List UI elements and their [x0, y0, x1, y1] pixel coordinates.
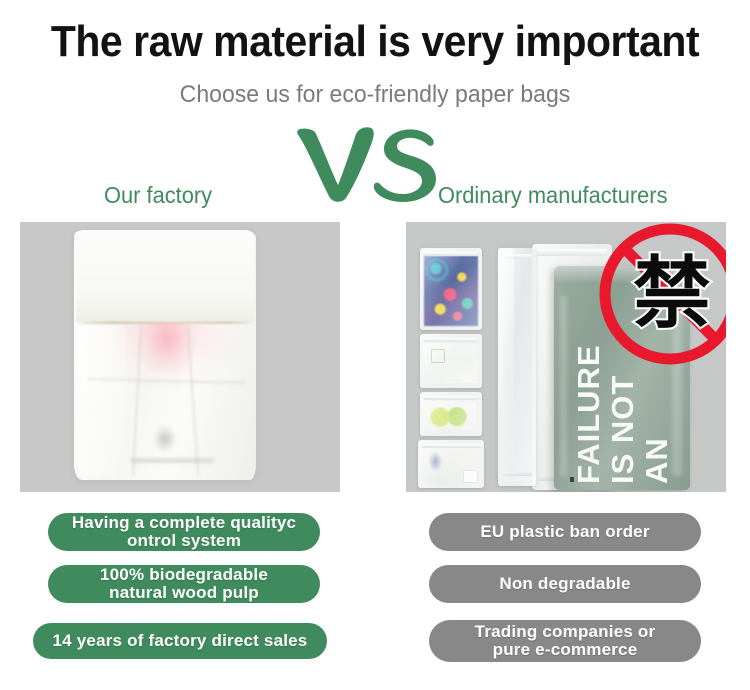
- bag-top-flap: [76, 230, 254, 322]
- zip-bag-white: [420, 334, 482, 388]
- bag-contents-dark: [154, 426, 176, 452]
- feature-pill-our-factory[interactable]: 14 years of factory direct sales: [33, 623, 327, 659]
- page-subtitle: Choose us for eco-friendly paper bags: [15, 80, 735, 110]
- bag-contents-pink: [140, 316, 194, 374]
- feature-pill-our-factory[interactable]: Having a complete qualityc ontrol system: [48, 513, 320, 551]
- pill-line-1: Non degradable: [499, 575, 630, 593]
- zip-seal: [421, 444, 481, 448]
- pill-line-2: ontrol system: [72, 532, 296, 550]
- white-paper-bag-image: [74, 230, 256, 480]
- promo-banner: The raw material is very important Choos…: [0, 0, 750, 690]
- pill-line-1: 100% biodegradable: [100, 566, 268, 584]
- zip-seal: [423, 396, 479, 400]
- vs-brush-mark: [296, 124, 446, 202]
- feature-pill-ordinary[interactable]: EU plastic ban order: [429, 513, 701, 551]
- pill-line-1: Trading companies or: [475, 623, 656, 641]
- pill-line-1: 14 years of factory direct sales: [53, 632, 308, 650]
- feature-pill-our-factory[interactable]: 100% biodegradable natural wood pulp: [48, 565, 320, 603]
- pill-line-1: Having a complete qualityc: [72, 514, 296, 532]
- bag-mark: [570, 477, 574, 482]
- bag-seam: [80, 321, 250, 324]
- feature-pill-ordinary[interactable]: Non degradable: [429, 565, 701, 603]
- pill-line-1: EU plastic ban order: [480, 523, 649, 541]
- right-column-caption: Ordinary manufacturers: [438, 182, 668, 208]
- feature-pill-ordinary[interactable]: Trading companies or pure e-commerce: [429, 620, 701, 662]
- bag-wrinkle: [560, 296, 567, 476]
- plastic-film-sheen: [498, 248, 514, 486]
- pill-line-2: natural wood pulp: [100, 584, 268, 602]
- prohibit-character: 禁: [633, 249, 711, 339]
- bag-sheen: [78, 326, 126, 476]
- our-factory-product-photo: [20, 222, 340, 492]
- prohibition-sign-icon: 禁: [594, 222, 726, 370]
- zip-seal: [423, 252, 479, 256]
- zip-bag-misc-items: [418, 440, 484, 488]
- zip-bag-green-discs: [420, 392, 482, 436]
- page-title: The raw material is very important: [26, 18, 724, 66]
- bag-crease: [132, 326, 142, 476]
- clear-plastic-mailer: [498, 248, 536, 486]
- left-column-caption: Our factory: [104, 182, 212, 208]
- zip-seal: [423, 338, 479, 342]
- plastic-film-sheen: [420, 248, 482, 330]
- pill-line-2: pure e-commerce: [475, 641, 656, 659]
- zip-bag-colorful: [420, 248, 482, 330]
- plastic-film-sheen: [420, 334, 482, 388]
- ordinary-manufacturer-product-photo: FAILURE IS NOT AN 禁: [406, 222, 726, 492]
- bag-contents-line: [130, 458, 214, 463]
